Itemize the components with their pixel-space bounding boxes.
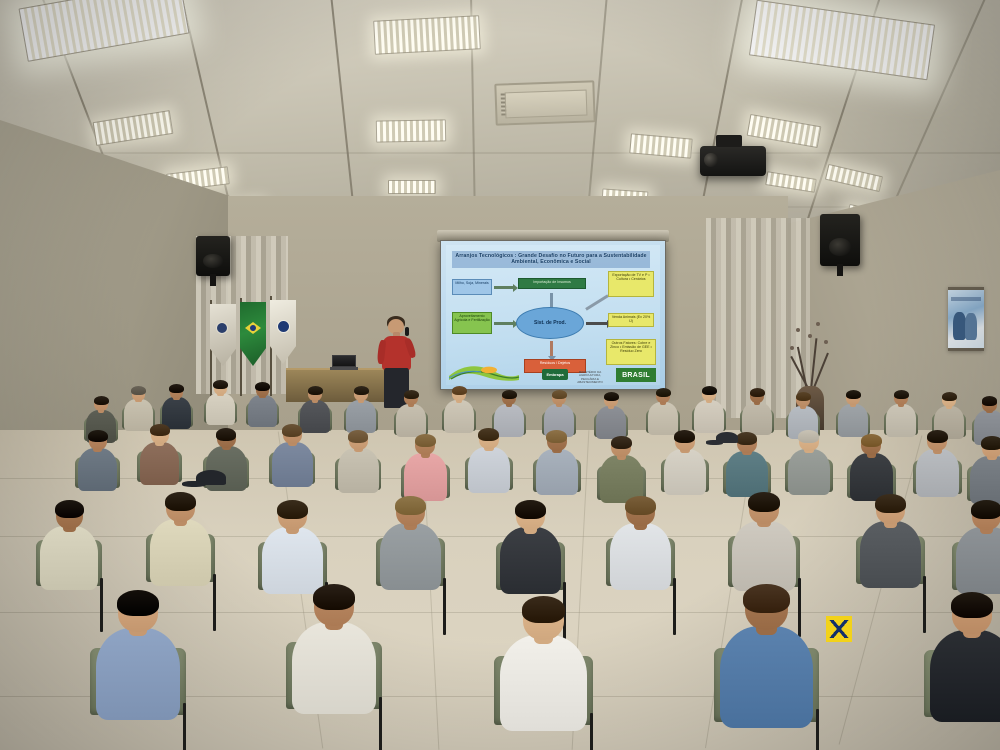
- torso: [732, 521, 796, 591]
- hair: [502, 390, 517, 399]
- torso: [248, 395, 277, 427]
- hair: [55, 500, 84, 518]
- torso: [380, 523, 441, 590]
- hair: [277, 500, 307, 519]
- audience-member: [346, 386, 376, 436]
- hair: [798, 430, 819, 443]
- hair: [478, 428, 499, 441]
- hair: [743, 584, 789, 613]
- audience-member: [468, 428, 510, 497]
- hair: [452, 386, 467, 395]
- audience-member: [338, 430, 379, 497]
- audience-member: [886, 390, 916, 440]
- torso: [694, 400, 724, 433]
- torso: [860, 521, 921, 588]
- audience-member: [78, 430, 117, 495]
- baseball-cap: [716, 432, 738, 443]
- hair: [165, 492, 195, 511]
- audience-member: [916, 430, 959, 501]
- torso: [930, 630, 1000, 723]
- audience-member: [732, 492, 796, 598]
- torso: [292, 622, 376, 715]
- audience-member: [140, 424, 179, 489]
- audience-member: [272, 424, 313, 491]
- torso: [346, 400, 376, 433]
- torso: [886, 404, 916, 437]
- torso: [338, 448, 379, 493]
- audience-member: [206, 428, 247, 495]
- torso: [956, 527, 1000, 594]
- hair: [971, 500, 1000, 519]
- audience-member: [500, 500, 561, 601]
- torso: [742, 402, 772, 435]
- audience-member: [788, 430, 830, 499]
- hair: [313, 584, 355, 610]
- torso: [720, 626, 813, 728]
- audience-member: [596, 392, 626, 442]
- audience-member: [860, 494, 921, 595]
- hair: [546, 430, 567, 443]
- audience-member: [930, 592, 1000, 731]
- hair: [117, 590, 159, 616]
- hair: [354, 386, 369, 395]
- chair-leg: [673, 578, 676, 635]
- torso: [916, 449, 959, 496]
- torso: [78, 448, 117, 492]
- audience-member: [742, 388, 772, 438]
- torso: [206, 393, 235, 425]
- hair: [94, 396, 109, 405]
- chair-leg: [590, 713, 593, 750]
- hair: [750, 388, 765, 397]
- torso: [664, 449, 706, 495]
- audience-member: [720, 584, 813, 738]
- conference-room-photo: Arranjos Tecnológicos : Grande Desafio n…: [0, 0, 1000, 750]
- hair: [942, 392, 957, 401]
- audience-member: [380, 496, 441, 597]
- audience-member: [956, 500, 1000, 601]
- torso: [468, 447, 510, 493]
- audience-member: [694, 386, 724, 436]
- hair: [611, 436, 632, 449]
- torso: [970, 456, 1000, 505]
- torso: [40, 526, 98, 590]
- torso: [500, 635, 587, 731]
- audience-member: [206, 380, 235, 428]
- hair: [404, 390, 419, 399]
- torso: [396, 404, 426, 437]
- torso: [610, 523, 671, 590]
- hair: [604, 392, 619, 401]
- hair: [625, 496, 655, 515]
- hair: [169, 384, 184, 393]
- torso: [500, 527, 561, 594]
- audience-member: [150, 492, 211, 593]
- hair: [894, 390, 909, 399]
- hair: [348, 430, 368, 443]
- torso: [788, 449, 830, 495]
- audience-member: [610, 496, 671, 597]
- hair: [927, 430, 948, 443]
- hair: [846, 390, 861, 399]
- hair: [522, 596, 566, 623]
- hair: [131, 386, 146, 395]
- hair: [515, 500, 545, 519]
- chair-leg: [379, 697, 382, 750]
- audience-member: [248, 382, 277, 430]
- torso: [838, 404, 868, 437]
- hair: [88, 430, 108, 442]
- torso: [536, 449, 578, 495]
- audience-member: [404, 434, 447, 505]
- audience-member: [396, 390, 426, 440]
- torso: [726, 451, 768, 497]
- hair: [213, 380, 228, 389]
- audience-member: [96, 590, 180, 729]
- audience-member: [664, 430, 706, 499]
- chair-leg: [183, 703, 186, 750]
- torso: [596, 406, 626, 439]
- hair: [395, 496, 425, 515]
- torso: [96, 628, 180, 721]
- hair: [674, 430, 695, 443]
- hair: [875, 494, 905, 513]
- hair: [702, 386, 717, 395]
- audience-member: [292, 584, 376, 723]
- audience-member: [838, 390, 868, 440]
- chair-leg: [816, 709, 819, 750]
- audience-member: [970, 436, 1000, 509]
- chair-leg: [923, 576, 926, 633]
- hair: [748, 492, 780, 512]
- hair: [308, 386, 323, 395]
- audience-member: [40, 500, 98, 596]
- torso: [272, 442, 313, 487]
- torso: [404, 453, 447, 500]
- hair: [796, 392, 811, 401]
- chair-leg: [443, 578, 446, 635]
- hair: [552, 390, 567, 399]
- audience-member: [536, 430, 578, 499]
- hair: [255, 382, 270, 391]
- torso: [150, 519, 211, 586]
- hair: [982, 396, 998, 406]
- chair-leg: [213, 574, 216, 631]
- torso: [140, 442, 179, 486]
- audience-member: [500, 596, 587, 740]
- hair: [861, 434, 882, 447]
- hair: [282, 424, 302, 437]
- hair: [216, 428, 236, 441]
- banco-do-brasil-patch-icon: [826, 616, 852, 642]
- hair: [656, 388, 671, 397]
- hair: [415, 434, 436, 447]
- baseball-cap: [196, 470, 226, 485]
- hair: [951, 592, 993, 618]
- hair: [736, 432, 757, 445]
- hair: [150, 424, 170, 436]
- hair: [981, 436, 1000, 450]
